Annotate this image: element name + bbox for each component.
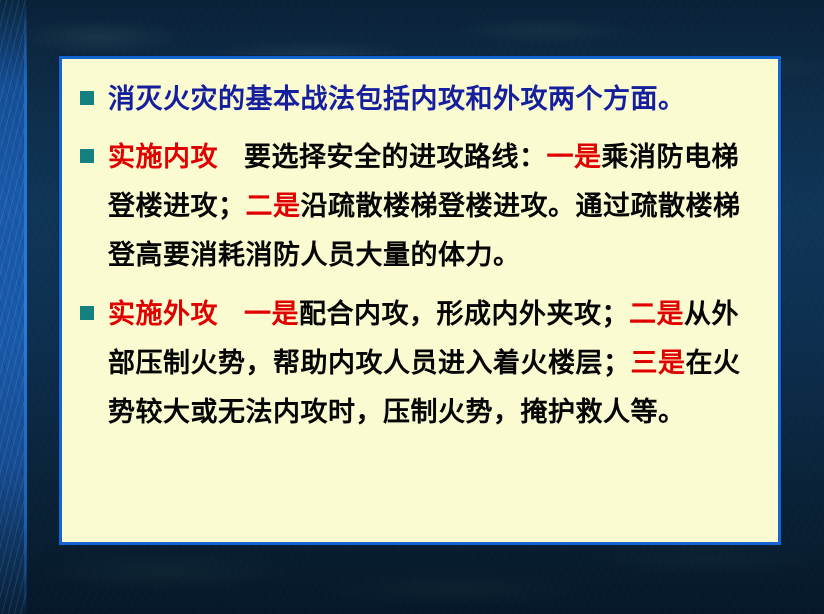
bullet-2-enum-2: 二是 [246,191,301,222]
square-bullet-icon [80,306,94,320]
square-bullet-icon [80,149,94,163]
slide-canvas: 消灭火灾的基本战法包括内攻和外攻两个方面。 实施内攻要选择安全的进攻路线：一是乘… [0,0,824,614]
bullet-text-1: 消灭火灾的基本战法包括内攻和外攻两个方面。 [108,77,756,123]
square-bullet-icon [80,91,94,105]
left-accent-strip [0,0,26,614]
bullet-2-heading: 实施内攻 [108,142,218,173]
left-accent-strip-edge [24,0,27,614]
content-panel-inner: 消灭火灾的基本战法包括内攻和外攻两个方面。 实施内攻要选择安全的进攻路线：一是乘… [62,59,778,451]
bullet-1-segment-1: 消灭火灾的基本战法包括内攻和外攻两个方面。 [108,84,686,115]
bullet-3-heading: 实施外攻 [108,299,218,330]
bullet-2-enum-1: 一是 [547,142,602,173]
bullet-3-enum-2: 二是 [629,299,684,330]
bullet-text-2: 实施内攻要选择安全的进攻路线：一是乘消防电梯登楼进攻；二是沿疏散楼梯登楼进攻。通… [108,133,756,280]
bullet-item-3: 实施外攻一是配合内攻，形成内外夹攻；二是从外部压制火势，帮助内攻人员进入着火楼层… [80,290,756,437]
bullet-text-3: 实施外攻一是配合内攻，形成内外夹攻；二是从外部压制火势，帮助内攻人员进入着火楼层… [108,290,756,437]
bullet-item-2: 实施内攻要选择安全的进攻路线：一是乘消防电梯登楼进攻；二是沿疏散楼梯登楼进攻。通… [80,133,756,280]
bullet-item-1: 消灭火灾的基本战法包括内攻和外攻两个方面。 [80,77,756,123]
bullet-3-enum-3: 三是 [631,348,686,379]
bullet-2-segment-2: 要选择安全的进攻路线： [244,142,547,173]
bullet-3-enum-1: 一是 [244,299,299,330]
content-panel: 消灭火灾的基本战法包括内攻和外攻两个方面。 实施内攻要选择安全的进攻路线：一是乘… [59,56,781,545]
bullet-3-segment-3: 配合内攻，形成内外夹攻； [299,299,629,330]
